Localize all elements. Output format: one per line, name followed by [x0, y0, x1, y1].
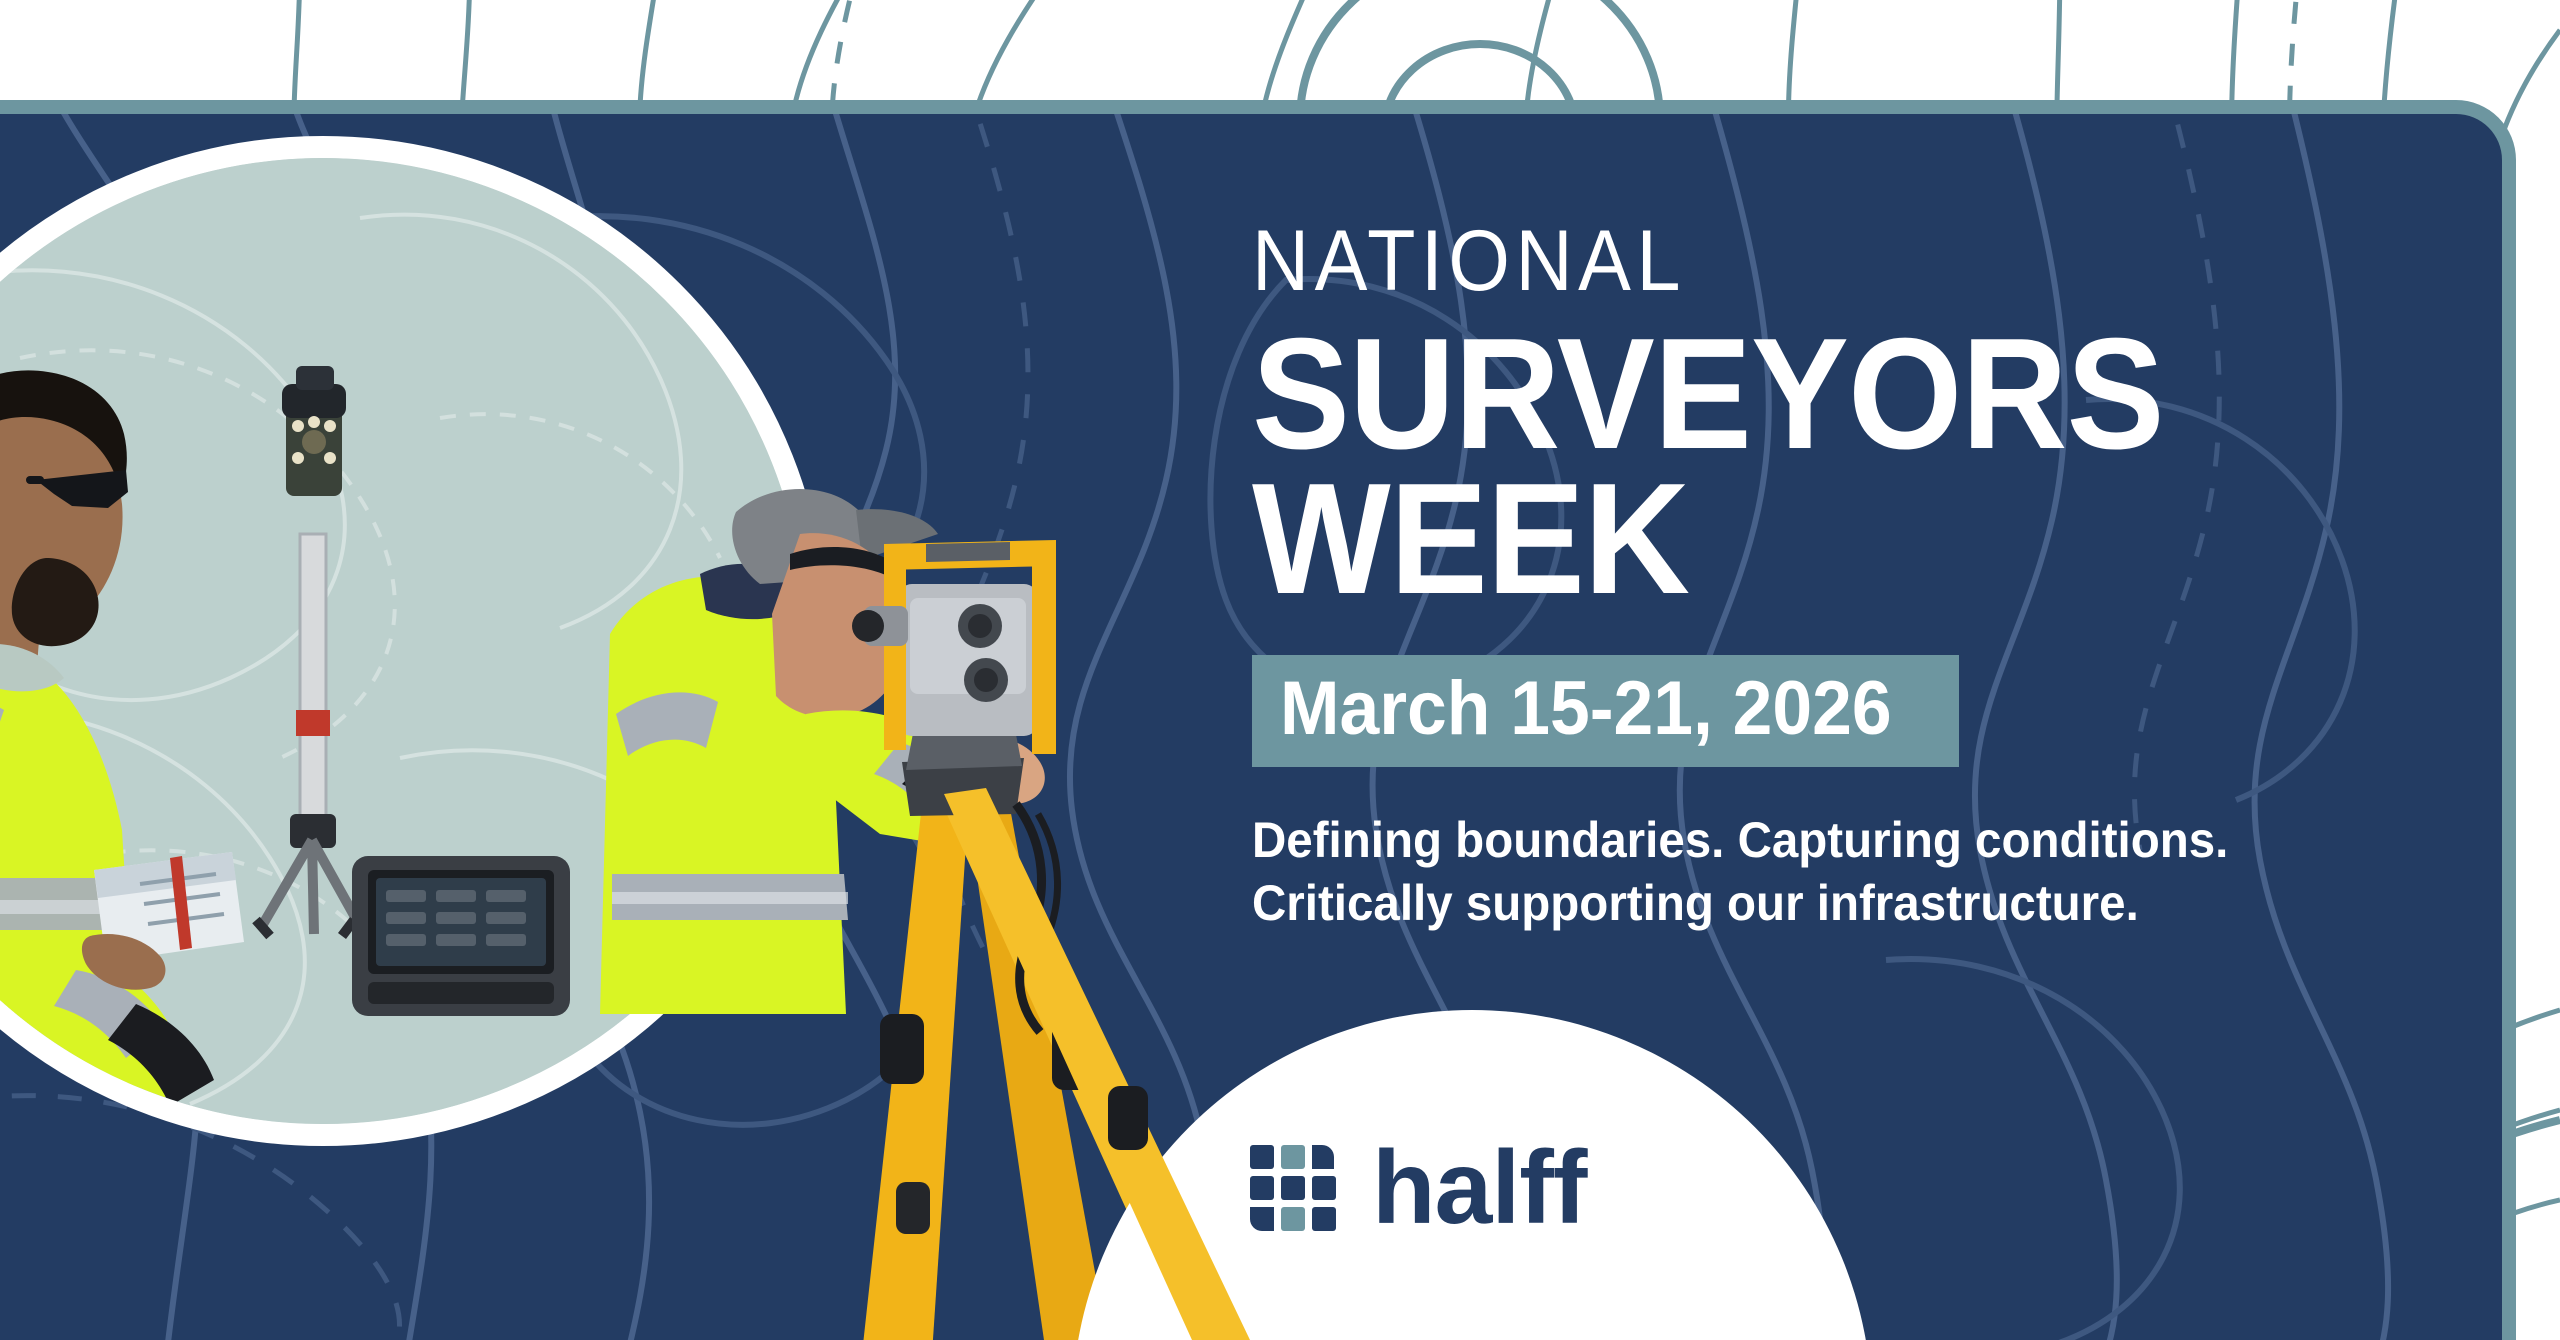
headline-block: NATIONAL SURVEYORS WEEK March 15-21, 202… — [1252, 218, 2492, 935]
tagline-line-2: Critically supporting our infrastructure… — [1252, 872, 2430, 935]
halff-grid-mark — [1250, 1145, 1336, 1231]
halff-logo[interactable]: halff — [1250, 1136, 1587, 1240]
tagline: Defining boundaries. Capturing condition… — [1252, 809, 2430, 935]
halff-wordmark: halff — [1372, 1136, 1587, 1240]
eyebrow-national: NATIONAL — [1252, 218, 2393, 304]
surveyors-photo-circle — [0, 136, 828, 1146]
tagline-line-1: Defining boundaries. Capturing condition… — [1252, 809, 2430, 872]
surveyors-photo — [0, 158, 806, 1124]
headline-surveyors: SURVEYORS — [1252, 322, 2405, 467]
date-text: March 15-21, 2026 — [1280, 671, 1892, 747]
headline-week: WEEK — [1252, 467, 2405, 612]
poster-canvas: halff NATIONAL SURVEYORS WEEK March 15-2… — [0, 0, 2560, 1340]
date-banner: March 15-21, 2026 — [1252, 655, 1959, 767]
